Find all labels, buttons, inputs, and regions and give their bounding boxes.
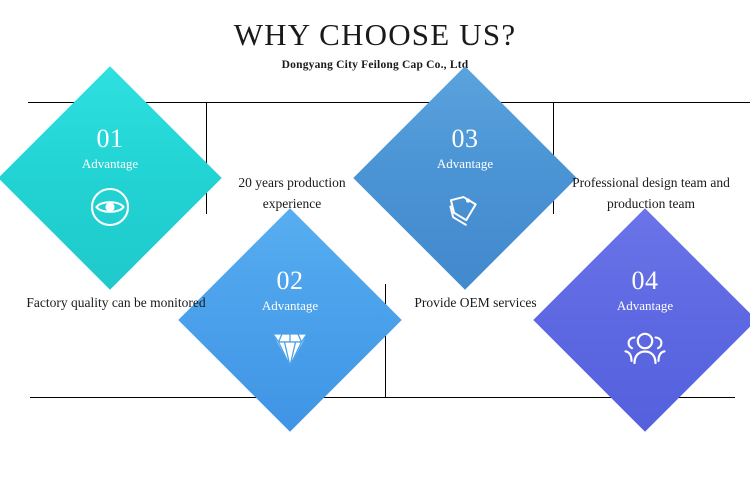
advantage-diamond-02-content: 02 Advantage	[211, 241, 369, 399]
advantage-diamond-04-content: 04 Advantage	[566, 241, 724, 399]
why-choose-us-infographic: WHY CHOOSE US? Dongyang City Feilong Cap…	[0, 0, 750, 414]
eye-icon	[87, 184, 133, 230]
advantage-label-01: Advantage	[82, 156, 138, 172]
advantage-diamond-02: 02 Advantage	[178, 208, 401, 431]
caption-bottom-right: Provide OEM services	[393, 292, 558, 313]
advantage-diamond-01-content: 01 Advantage	[31, 99, 189, 257]
caption-top-right: Professional design team and production …	[556, 172, 746, 214]
caption-bottom-left: Factory quality can be monitored	[26, 292, 206, 313]
header: WHY CHOOSE US? Dongyang City Feilong Cap…	[0, 16, 750, 71]
gem-icon	[267, 326, 313, 372]
divider-vertical-left	[206, 102, 207, 214]
price-tag-icon	[442, 184, 488, 230]
divider-vertical-center	[385, 284, 386, 398]
people-group-icon	[622, 326, 668, 372]
advantage-diamond-01: 01 Advantage	[0, 66, 222, 289]
advantage-diamond-03-content: 03 Advantage	[386, 99, 544, 257]
caption-top-left: 20 years production experience	[212, 172, 372, 214]
advantage-number-01: 01	[97, 125, 124, 153]
advantage-number-04: 04	[632, 267, 659, 295]
advantage-number-02: 02	[277, 267, 304, 295]
page-title: WHY CHOOSE US?	[0, 16, 750, 54]
advantage-diamond-03: 03 Advantage	[353, 66, 576, 289]
advantage-diamond-04: 04 Advantage	[533, 208, 750, 431]
advantage-label-04: Advantage	[617, 298, 673, 314]
advantage-number-03: 03	[452, 125, 479, 153]
advantage-label-02: Advantage	[262, 298, 318, 314]
advantage-label-03: Advantage	[437, 156, 493, 172]
